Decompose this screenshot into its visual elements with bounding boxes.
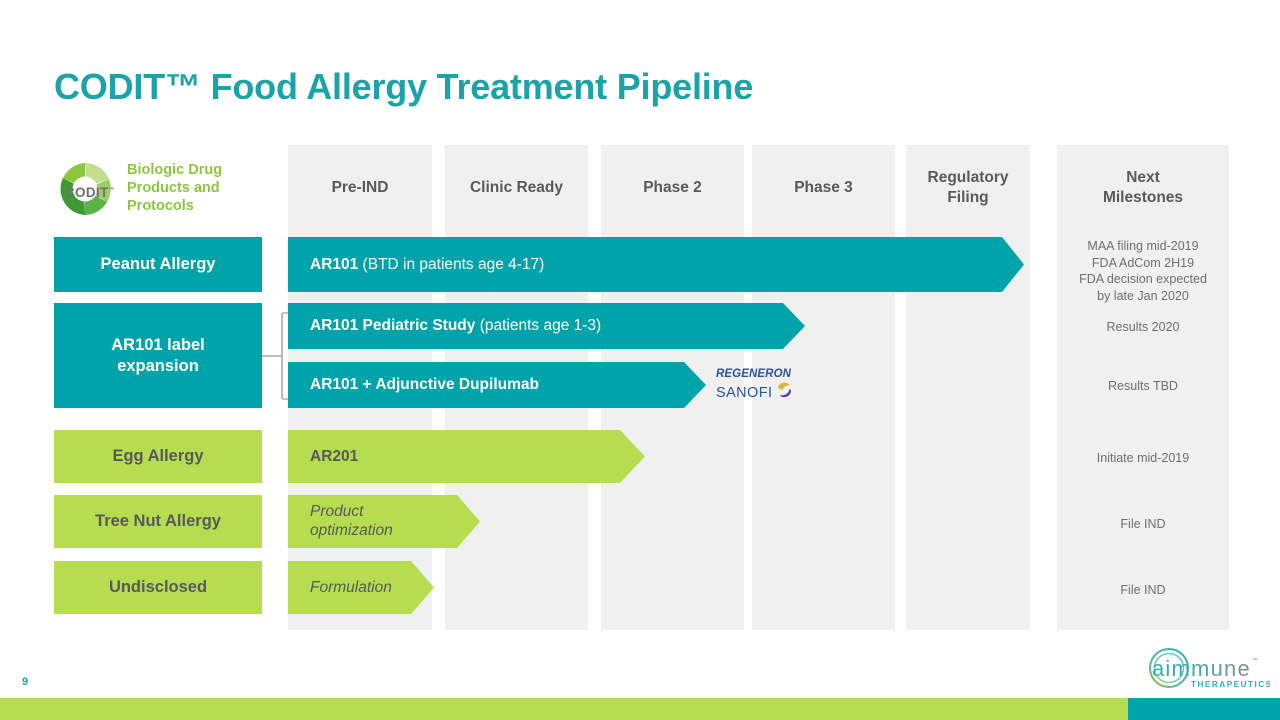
milestone-peanut-allergy-text: MAA filing mid-2019 FDA AdCom 2H19 FDA d… bbox=[1079, 239, 1207, 303]
bar-ar201-name: AR201 bbox=[310, 448, 358, 465]
bar-formulation-label: Formulation bbox=[310, 579, 392, 597]
svg-text:™: ™ bbox=[1252, 657, 1258, 664]
column-header-pre-ind: Pre-IND bbox=[288, 145, 432, 230]
column-header-phase-2: Phase 2 bbox=[601, 145, 744, 230]
milestone-ar101-pediatric-study: Results 2020 bbox=[1057, 319, 1229, 336]
footer-bar-green bbox=[0, 698, 1128, 720]
bar-ar101-adjunctive-dupilumab-arrow-icon bbox=[684, 362, 706, 408]
row-label-ar101-label-expansion-line2: expansion bbox=[111, 356, 205, 377]
codit-caption-line2: Products and bbox=[127, 180, 222, 198]
column-header-pre-ind-label: Pre-IND bbox=[332, 178, 389, 198]
column-header-regulatory-filing-label2: Filing bbox=[928, 188, 1009, 208]
regeneron-wordmark: REGENERON bbox=[716, 368, 808, 381]
pipeline-slide: CODIT™ Food Allergy Treatment Pipeline P… bbox=[0, 0, 1280, 720]
column-header-next-milestones-label: Next bbox=[1103, 168, 1183, 188]
codit-caption-line3: Protocols bbox=[127, 198, 222, 216]
row-label-peanut-allergy-text: Peanut Allergy bbox=[101, 254, 216, 275]
bar-formulation-arrow-icon bbox=[411, 561, 434, 614]
row-label-undisclosed[interactable]: Undisclosed bbox=[54, 561, 262, 614]
codit-caption-line1: Biologic Drug bbox=[127, 162, 222, 180]
milestone-peanut-allergy: MAA filing mid-2019 FDA AdCom 2H19 FDA d… bbox=[1057, 238, 1229, 305]
milestone-ar101-adjunctive-dupilumab-text: Results TBD bbox=[1108, 379, 1178, 393]
row-label-ar101-label-expansion-line1: AR101 label bbox=[111, 335, 205, 356]
milestone-egg-allergy-text: Initiate mid-2019 bbox=[1097, 451, 1189, 465]
bar-product-optimization-arrow-icon bbox=[457, 495, 480, 548]
codit-logo-icon: CODIT™ bbox=[54, 158, 116, 220]
page-title: CODIT™ Food Allergy Treatment Pipeline bbox=[54, 66, 753, 108]
footer-bar-teal bbox=[1128, 698, 1280, 720]
bar-ar101-pediatric-study-name: AR101 Pediatric Study bbox=[310, 317, 475, 334]
row-label-tree-nut-allergy-text: Tree Nut Allergy bbox=[95, 511, 221, 532]
codit-caption: Biologic Drug Products and Protocols bbox=[127, 162, 222, 215]
bar-ar101-adjunctive-dupilumab[interactable]: AR101 + Adjunctive Dupilumab bbox=[288, 362, 684, 408]
aimmune-logo: aimmune ™ THERAPEUTICS bbox=[1144, 646, 1270, 696]
bar-ar101-adjunctive-dupilumab-name: AR101 + Adjunctive Dupilumab bbox=[310, 376, 539, 393]
bar-ar101-pediatric-study-arrow-icon bbox=[783, 303, 805, 349]
column-header-clinic-ready: Clinic Ready bbox=[445, 145, 588, 230]
column-header-phase-3-label: Phase 3 bbox=[794, 178, 853, 198]
bar-product-optimization[interactable]: Product optimization bbox=[288, 495, 457, 548]
column-header-next-milestones-label2: Milestones bbox=[1103, 188, 1183, 208]
codit-tm: ™ bbox=[109, 188, 115, 194]
column-header-regulatory-filing: Regulatory Filing bbox=[906, 145, 1030, 230]
page-number: 9 bbox=[22, 676, 28, 688]
milestone-undisclosed-text: File IND bbox=[1120, 583, 1165, 597]
milestone-ar101-pediatric-study-text: Results 2020 bbox=[1107, 320, 1180, 334]
column-header-next-milestones: Next Milestones bbox=[1057, 145, 1229, 230]
column-header-phase-2-label: Phase 2 bbox=[643, 178, 702, 198]
row-label-egg-allergy-text: Egg Allergy bbox=[112, 446, 203, 467]
bar-formulation[interactable]: Formulation bbox=[288, 561, 411, 614]
bar-ar101-pediatric-study[interactable]: AR101 Pediatric Study (patients age 1-3) bbox=[288, 303, 783, 349]
column-header-phase-3: Phase 3 bbox=[752, 145, 895, 230]
bar-ar101-arrow-icon bbox=[1002, 237, 1024, 292]
svg-text:aimmune: aimmune bbox=[1152, 656, 1251, 681]
row-label-peanut-allergy[interactable]: Peanut Allergy bbox=[54, 237, 262, 292]
column-band-regulatory-filing: Regulatory Filing bbox=[906, 145, 1030, 630]
bar-ar101-detail: (BTD in patients age 4-17) bbox=[358, 256, 544, 273]
row-label-tree-nut-allergy[interactable]: Tree Nut Allergy bbox=[54, 495, 262, 548]
row-label-egg-allergy[interactable]: Egg Allergy bbox=[54, 430, 262, 483]
milestone-ar101-adjunctive-dupilumab: Results TBD bbox=[1057, 378, 1229, 395]
sanofi-swoosh-icon bbox=[776, 382, 793, 404]
row-label-ar101-label-expansion[interactable]: AR101 label expansion bbox=[54, 303, 262, 408]
bar-ar201-arrow-icon bbox=[620, 430, 645, 483]
bar-product-optimization-label: Product optimization bbox=[310, 503, 445, 541]
partner-logo-regeneron-sanofi: REGENERON SANOFI bbox=[716, 368, 808, 404]
row-label-undisclosed-text: Undisclosed bbox=[109, 577, 207, 598]
codit-wordmark: CODIT™ bbox=[65, 185, 115, 200]
column-header-clinic-ready-label: Clinic Ready bbox=[470, 178, 563, 198]
milestone-tree-nut-allergy-text: File IND bbox=[1120, 517, 1165, 531]
milestone-tree-nut-allergy: File IND bbox=[1057, 516, 1229, 533]
codit-logo-block: CODIT™ Biologic Drug Products and Protoc… bbox=[54, 150, 264, 228]
bar-ar101-pediatric-study-detail: (patients age 1-3) bbox=[475, 317, 601, 334]
svg-text:THERAPEUTICS: THERAPEUTICS bbox=[1191, 680, 1270, 689]
sanofi-wordmark: SANOFI bbox=[716, 385, 772, 401]
bar-ar101[interactable]: AR101 (BTD in patients age 4-17) bbox=[288, 237, 1002, 292]
milestone-egg-allergy: Initiate mid-2019 bbox=[1057, 450, 1229, 467]
milestone-undisclosed: File IND bbox=[1057, 582, 1229, 599]
bar-ar201[interactable]: AR201 bbox=[288, 430, 620, 483]
column-header-regulatory-filing-label: Regulatory bbox=[928, 168, 1009, 188]
bar-ar101-name: AR101 bbox=[310, 256, 358, 273]
